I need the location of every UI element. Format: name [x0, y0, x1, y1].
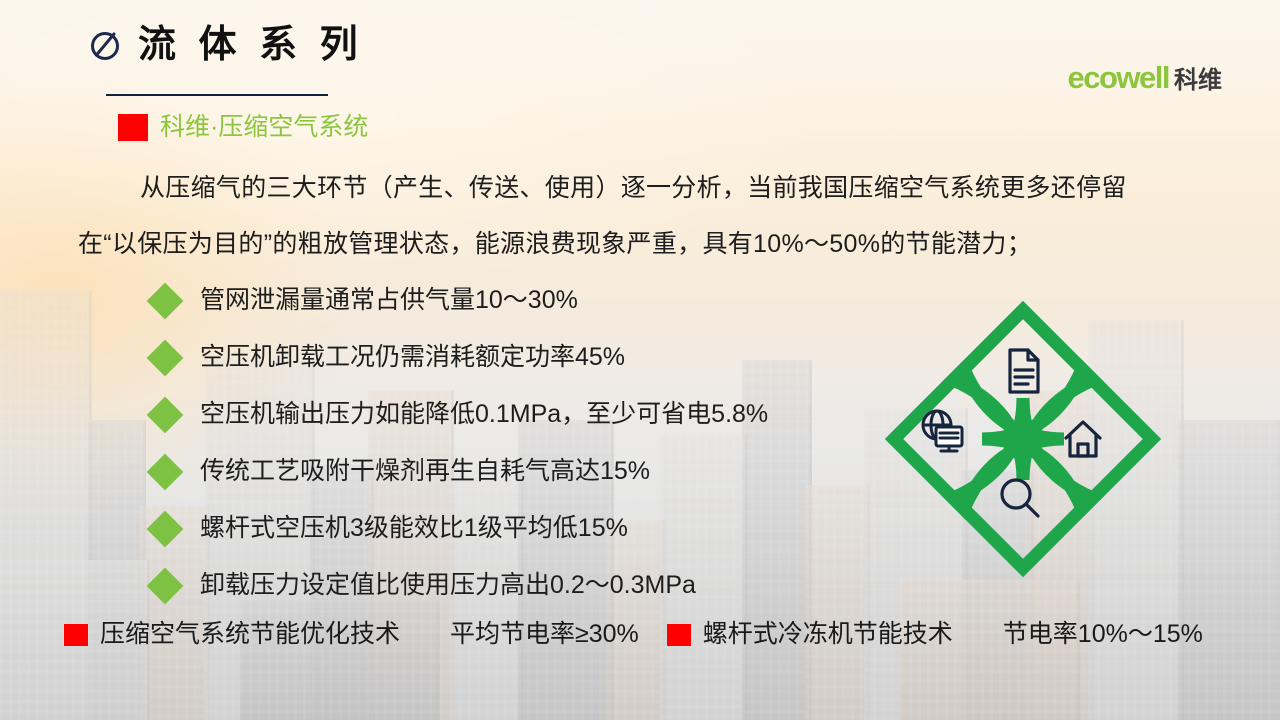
list-item-label: 卸载压力设定值比使用压力高出0.2～0.3MPa [200, 573, 696, 598]
logo-wordmark-cn: 科维 [1174, 69, 1222, 93]
list-item: 空压机输出压力如能降低0.1MPa，至少可省电5.8% [152, 386, 912, 443]
list-item-label: 螺杆式空压机3级能效比1级平均低15% [200, 516, 628, 541]
footer-item-1-label: 压缩空气系统节能优化技术 [100, 622, 400, 647]
diamond-bullet-icon [147, 510, 184, 547]
footer-item-2: 螺杆式冷冻机节能技术 节电率10%～15% [667, 622, 1203, 647]
list-item: 螺杆式空压机3级能效比1级平均低15% [152, 500, 912, 557]
list-item: 卸载压力设定值比使用压力高出0.2～0.3MPa [152, 557, 912, 614]
page-title: 流 体 系 列 [138, 26, 364, 64]
magnifier-icon [1002, 480, 1038, 516]
paragraph-line-2: 在“以保压为目的”的粗放管理状态，能源浪费现象严重，具有10%～50%的节能潜力… [78, 216, 1208, 272]
section-heading: 科维·压缩空气系统 [118, 114, 368, 141]
title-divider [106, 94, 328, 96]
slashed-circle-icon [88, 28, 122, 62]
paragraph-line-1-text: 从压缩气的三大环节（产生、传送、使用）逐一分析，当前我国压缩空气系统更多还停留 [140, 174, 1127, 202]
ecowell-logo: ecowell 科维 [1068, 62, 1223, 93]
section-heading-label: 科维·压缩空气系统 [160, 115, 368, 140]
diamond-bullet-icon [147, 396, 184, 433]
body-paragraph: 从压缩气的三大环节（产生、传送、使用）逐一分析，当前我国压缩空气系统更多还停留 … [78, 160, 1208, 272]
footer-item-2-label: 螺杆式冷冻机节能技术 [703, 622, 953, 647]
list-item: 管网泄漏量通常占供气量10～30% [152, 272, 912, 329]
list-item-label: 空压机卸载工况仍需消耗额定功率45% [200, 345, 625, 370]
list-item-label: 管网泄漏量通常占供气量10～30% [200, 288, 578, 313]
red-square-bullet-icon [118, 114, 148, 141]
list-item-label: 传统工艺吸附干燥剂再生自耗气高达15% [200, 459, 650, 484]
red-square-bullet-icon [667, 624, 691, 646]
diamond-bullet-icon [147, 282, 184, 319]
list-item: 空压机卸载工况仍需消耗额定功率45% [152, 329, 912, 386]
list-item-label: 空压机输出压力如能降低0.1MPa，至少可省电5.8% [200, 402, 768, 427]
footer-item-1-value: 平均节电率≥30% [450, 622, 639, 647]
paragraph-line-1: 从压缩气的三大环节（产生、传送、使用）逐一分析，当前我国压缩空气系统更多还停留 [78, 160, 1208, 216]
footer-item-1: 压缩空气系统节能优化技术 平均节电率≥30% [64, 622, 639, 647]
document-icon [1010, 350, 1038, 392]
globe-monitor-icon [923, 411, 962, 451]
diamond-bullet-icon [147, 453, 184, 490]
presentation-slide: 流 体 系 列 ecowell 科维 科维·压缩空气系统 从压缩气的三大环节（产… [0, 0, 1280, 720]
home-icon [1066, 422, 1100, 456]
footer-highlights: 压缩空气系统节能优化技术 平均节电率≥30% 螺杆式冷冻机节能技术 节电率10%… [64, 622, 1264, 647]
diamond-bullet-icon [147, 339, 184, 376]
bullet-list: 管网泄漏量通常占供气量10～30% 空压机卸载工况仍需消耗额定功率45% 空压机… [152, 272, 912, 614]
list-item: 传统工艺吸附干燥剂再生自耗气高达15% [152, 443, 912, 500]
diamond-bullet-icon [147, 567, 184, 604]
red-square-bullet-icon [64, 624, 88, 646]
slide-header: 流 体 系 列 [88, 26, 364, 64]
four-petal-diamond-graphic [882, 298, 1164, 580]
logo-wordmark: ecowell [1068, 62, 1170, 93]
footer-item-2-value: 节电率10%～15% [1003, 622, 1203, 647]
